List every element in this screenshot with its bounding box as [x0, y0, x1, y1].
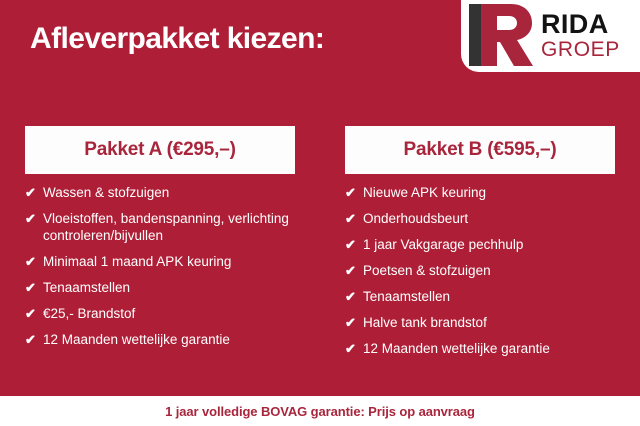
check-icon: ✔ [25, 253, 43, 270]
list-item: ✔ 1 jaar Vakgarage pechhulp [345, 236, 615, 253]
list-item: ✔ Onderhoudsbeurt [345, 210, 615, 227]
list-item: ✔ €25,- Brandstof [25, 305, 295, 322]
list-item: ✔ Halve tank brandstof [345, 314, 615, 331]
package-header-b: Pakket B (€595,–) [345, 126, 615, 174]
check-icon: ✔ [345, 236, 363, 253]
check-icon: ✔ [345, 262, 363, 279]
check-icon: ✔ [25, 210, 43, 227]
check-icon: ✔ [25, 279, 43, 296]
logo-name-groep: GROEP [541, 39, 620, 60]
list-item: ✔ Tenaamstellen [345, 288, 615, 305]
list-item: ✔ Nieuwe APK keuring [345, 184, 615, 201]
list-item: ✔ Wassen & stofzuigen [25, 184, 295, 201]
list-item: ✔ Poetsen & stofzuigen [345, 262, 615, 279]
package-card-a: Pakket A (€295,–) ✔ Wassen & stofzuigen … [25, 126, 295, 366]
feature-label: Poetsen & stofzuigen [363, 262, 615, 279]
footer-bar: 1 jaar volledige BOVAG garantie: Prijs o… [0, 396, 640, 426]
footer-guarantee-text: 1 jaar volledige BOVAG garantie: Prijs o… [165, 404, 475, 419]
feature-label: 12 Maanden wettelijke garantie [43, 331, 295, 348]
feature-label: 1 jaar Vakgarage pechhulp [363, 236, 615, 253]
list-item: ✔ 12 Maanden wettelijke garantie [25, 331, 295, 348]
packages-container: Pakket A (€295,–) ✔ Wassen & stofzuigen … [0, 126, 640, 366]
logo-wordmark: RIDA GROEP [541, 11, 620, 60]
feature-label: Halve tank brandstof [363, 314, 615, 331]
package-title-a: Pakket A (€295,–) [84, 139, 236, 161]
feature-label: Onderhoudsbeurt [363, 210, 615, 227]
package-header-a: Pakket A (€295,–) [25, 126, 295, 174]
check-icon: ✔ [345, 340, 363, 357]
feature-label: Wassen & stofzuigen [43, 184, 295, 201]
check-icon: ✔ [345, 314, 363, 331]
page-title: Afleverpakket kiezen: [30, 22, 324, 56]
check-icon: ✔ [345, 210, 363, 227]
list-item: ✔ Minimaal 1 maand APK keuring [25, 253, 295, 270]
package-card-b: Pakket B (€595,–) ✔ Nieuwe APK keuring ✔… [345, 126, 615, 366]
feature-label: Tenaamstellen [43, 279, 295, 296]
feature-label: €25,- Brandstof [43, 305, 295, 322]
list-item: ✔ Vloeistoffen, bandenspanning, verlicht… [25, 210, 295, 244]
feature-label: Minimaal 1 maand APK keuring [43, 253, 295, 270]
rida-groep-logo: RIDA GROEP [461, 0, 640, 72]
feature-list-a: ✔ Wassen & stofzuigen ✔ Vloeistoffen, ba… [25, 184, 295, 348]
check-icon: ✔ [25, 305, 43, 322]
feature-list-b: ✔ Nieuwe APK keuring ✔ Onderhoudsbeurt ✔… [345, 184, 615, 357]
check-icon: ✔ [345, 184, 363, 201]
feature-label: Tenaamstellen [363, 288, 615, 305]
rida-r-monogram-icon [467, 2, 535, 68]
feature-label: Vloeistoffen, bandenspanning, verlichtin… [43, 210, 295, 244]
check-icon: ✔ [345, 288, 363, 305]
package-title-b: Pakket B (€595,–) [404, 139, 557, 161]
list-item: ✔ Tenaamstellen [25, 279, 295, 296]
logo-name-rida: RIDA [541, 11, 620, 38]
feature-label: 12 Maanden wettelijke garantie [363, 340, 615, 357]
feature-label: Nieuwe APK keuring [363, 184, 615, 201]
list-item: ✔ 12 Maanden wettelijke garantie [345, 340, 615, 357]
check-icon: ✔ [25, 184, 43, 201]
header-banner: Afleverpakket kiezen: RIDA GROEP [0, 0, 640, 96]
check-icon: ✔ [25, 331, 43, 348]
